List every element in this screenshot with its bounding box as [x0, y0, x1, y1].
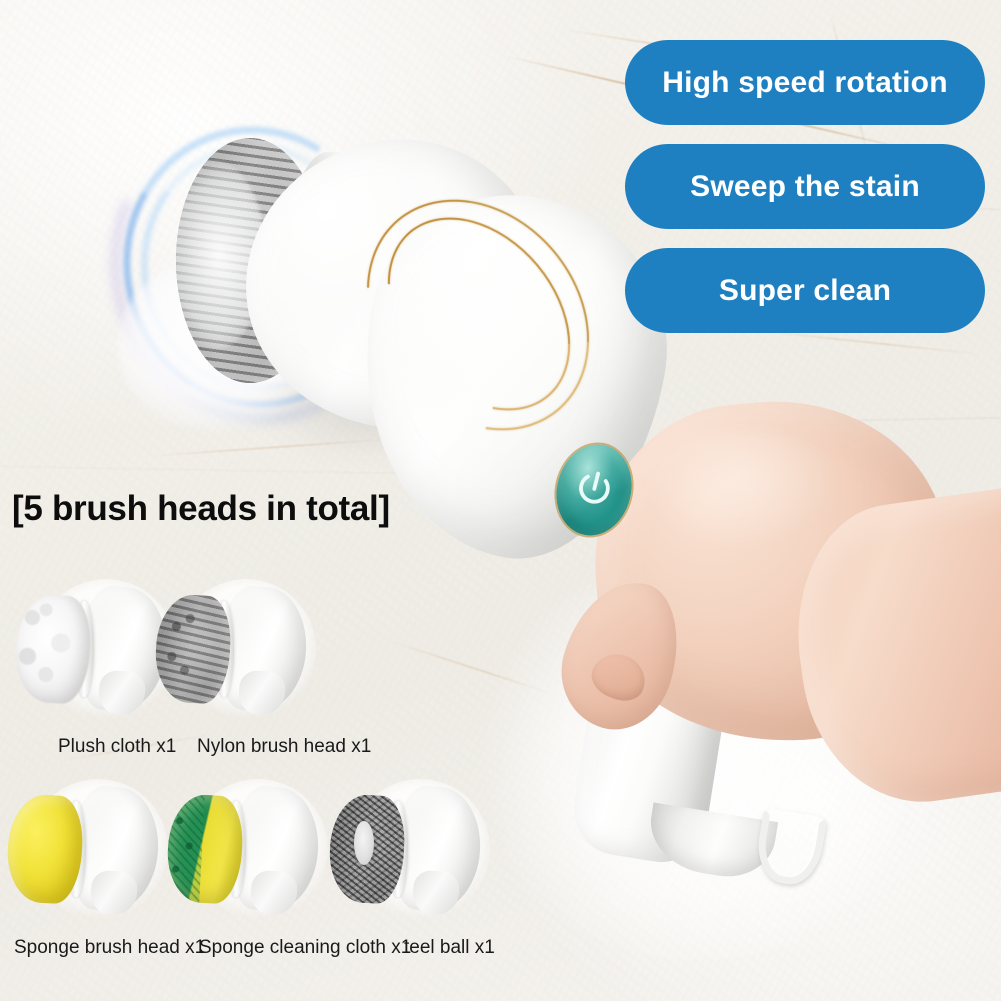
plush-cloth-pad-icon — [13, 593, 93, 705]
accessory-label-sponge-cleaning-cloth: Sponge cleaning cloth x1 — [199, 937, 411, 959]
accessory-label-sponge-brush-head: Sponge brush head x1 — [14, 937, 205, 959]
feature-badge-sweep-the-stain[interactable]: Sweep the stain — [625, 144, 985, 229]
hand-highlight — [640, 430, 840, 550]
accessory-steel-ball[interactable] — [322, 765, 497, 940]
product-image: High speed rotation Sweep the stain Supe… — [0, 0, 1001, 1001]
green-scouring-pad-icon — [165, 793, 245, 905]
accessory-label-plush-cloth: Plush cloth x1 — [58, 736, 176, 758]
accessory-label-steel-ball: teel ball x1 — [404, 937, 495, 959]
feature-badge-super-clean[interactable]: Super clean — [625, 248, 985, 333]
feature-badge-high-speed-rotation[interactable]: High speed rotation — [625, 40, 985, 125]
accessory-label-nylon-brush-head: Nylon brush head x1 — [197, 736, 371, 758]
accessory-sponge-cleaning-cloth[interactable] — [160, 765, 335, 940]
steel-wool-center-hole — [354, 821, 374, 865]
yellow-sponge-pad-icon — [5, 793, 85, 905]
nylon-bristle-pad-icon — [153, 593, 233, 705]
feature-badge-list: High speed rotation Sweep the stain Supe… — [625, 40, 985, 333]
accessory-sponge-brush-head[interactable] — [0, 765, 175, 940]
page-title: [5 brush heads in total] — [12, 489, 390, 529]
accessory-nylon-brush-head[interactable] — [148, 565, 323, 740]
power-icon — [566, 462, 622, 518]
